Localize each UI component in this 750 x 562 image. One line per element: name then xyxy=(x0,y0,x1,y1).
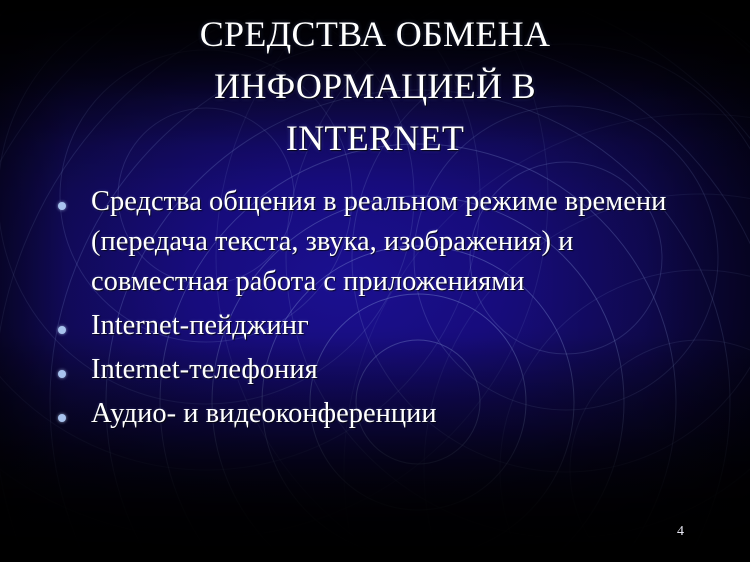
bullet-dot-icon xyxy=(58,370,66,378)
title-line-3: INTERNET xyxy=(60,112,690,164)
bullet-dot-icon xyxy=(58,326,66,334)
bullet-dot-icon xyxy=(58,202,66,210)
bullet-text: Internet-пейджинг xyxy=(91,306,698,346)
bullet-marker xyxy=(58,350,91,383)
bullet-list: Средства общения в реальном режиме време… xyxy=(58,182,698,438)
bullet-marker xyxy=(58,306,91,339)
bullet-text: Internet-телефония xyxy=(91,350,698,390)
bullet-text: Аудио- и видеоконференции xyxy=(91,394,698,434)
presentation-slide: СРЕДСТВА ОБМЕНА ИНФОРМАЦИЕЙ В INTERNET С… xyxy=(0,0,750,562)
slide-number: 4 xyxy=(677,524,684,540)
list-item: Internet-пейджинг xyxy=(58,306,698,346)
bullet-marker xyxy=(58,394,91,427)
bullet-marker xyxy=(58,182,91,215)
bullet-text: Средства общения в реальном режиме време… xyxy=(91,182,698,302)
bullet-dot-icon xyxy=(58,414,66,422)
list-item: Internet-телефония xyxy=(58,350,698,390)
list-item: Средства общения в реальном режиме време… xyxy=(58,182,698,302)
title-line-1: СРЕДСТВА ОБМЕНА xyxy=(60,8,690,60)
title-line-2: ИНФОРМАЦИЕЙ В xyxy=(60,60,690,112)
slide-content: СРЕДСТВА ОБМЕНА ИНФОРМАЦИЕЙ В INTERNET С… xyxy=(0,0,750,562)
list-item: Аудио- и видеоконференции xyxy=(58,394,698,434)
slide-title: СРЕДСТВА ОБМЕНА ИНФОРМАЦИЕЙ В INTERNET xyxy=(60,8,690,164)
